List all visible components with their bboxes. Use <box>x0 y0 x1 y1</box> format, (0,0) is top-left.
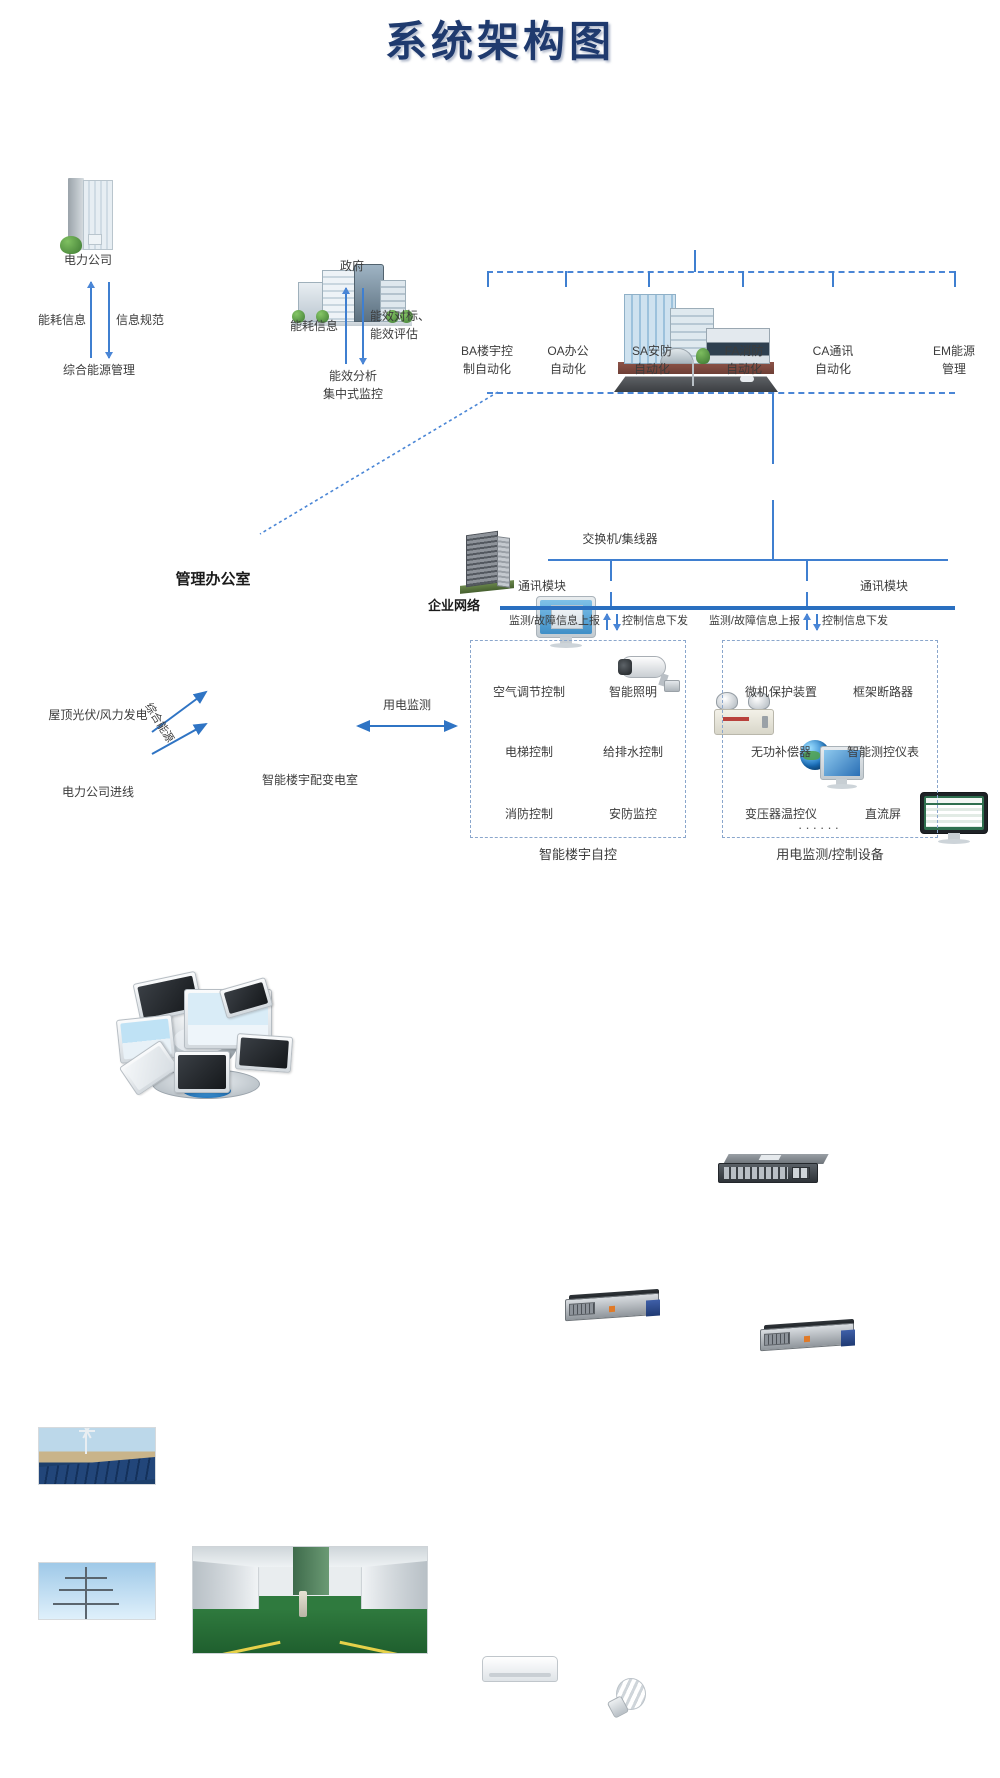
office-to-bus-link <box>250 390 510 550</box>
subsystem-label-ca-line2: 自动化 <box>793 361 873 377</box>
subsystem-label-ba-line1: BA楼宇控 <box>447 343 527 359</box>
pm-item-label-1: 框架断路器 <box>828 684 938 700</box>
subsystem-label-oa-line2: 自动化 <box>528 361 608 377</box>
power-company-label: 电力公司 <box>18 252 158 268</box>
power-company-icon <box>62 178 116 252</box>
drop-fa <box>742 271 744 287</box>
flow-down-arrow-left <box>616 614 618 630</box>
ba-item-label-1: 智能照明 <box>578 684 688 700</box>
ba-item-label-5: 安防监控 <box>578 806 688 822</box>
grid-incoming-icon <box>38 1562 156 1620</box>
management-office-icon <box>118 969 308 1101</box>
switch-to-bus-line <box>772 500 774 560</box>
air-conditioner-icon <box>482 1656 558 1682</box>
government-down-arrow-label-line1: 能效对标、 <box>370 308 460 324</box>
pm-item-label-2: 无功补偿器 <box>722 744 840 760</box>
power-company-up-arrow <box>90 282 92 358</box>
substation-room-label: 智能楼宇配变电室 <box>182 772 438 788</box>
management-office-label: 管理办公室 <box>108 572 318 588</box>
ba-item-label-0: 空气调节控制 <box>470 684 588 700</box>
subsystem-label-em-line1: EM能源 <box>914 343 994 359</box>
subsystem-label-ba-line2: 制自动化 <box>447 361 527 377</box>
network-switch-icon <box>718 1154 826 1190</box>
rooftop-pv-wind-icon <box>38 1427 156 1485</box>
power-company-down-arrow-label: 信息规范 <box>116 312 196 328</box>
flow-up-label-right: 监测/故障信息上报 <box>672 613 800 629</box>
pm-item-label-0: 微机保护装置 <box>722 684 840 700</box>
government-up-arrow-label: 能耗信息 <box>272 318 338 334</box>
drop-sa <box>648 271 650 287</box>
energy-analysis-label-line1: 能效分析 <box>288 368 418 384</box>
building-automation-caption: 智能楼宇自控 <box>470 847 686 863</box>
page-title: 系统架构图 <box>0 8 1000 69</box>
pm-item-label-3: 智能测控仪表 <box>828 744 938 760</box>
power-company-down-arrow <box>108 282 110 358</box>
building-to-bus-line <box>694 250 696 272</box>
government-down-arrow <box>362 288 364 364</box>
power-monitoring-arrow-label: 用电监测 <box>352 697 462 713</box>
subsystem-label-fa-line2: 自动化 <box>704 361 784 377</box>
flow-down-arrow-right <box>816 614 818 630</box>
subsystem-label-fa-line1: FA消防 <box>704 343 784 359</box>
grid-incoming-label: 电力公司进线 <box>18 784 178 800</box>
ba-item-label-4: 消防控制 <box>470 806 588 822</box>
power-monitoring-bidir-arrow <box>350 718 464 734</box>
comm-drop-left <box>610 559 612 581</box>
light-bulb-icon <box>608 1678 648 1724</box>
comm-module-right-icon <box>760 1322 858 1352</box>
comm-bus <box>548 559 948 561</box>
subsystem-bus-bottom <box>487 392 955 394</box>
subsystem-bus-top <box>487 271 955 273</box>
subsystem-label-sa-line2: 自动化 <box>612 361 692 377</box>
power-monitoring-caption: 用电监测/控制设备 <box>722 847 938 863</box>
subsystem-label-ca-line1: CA通讯 <box>793 343 873 359</box>
subsystem-label-oa-line1: OA办公 <box>528 343 608 359</box>
flow-down-label-right: 控制信息下发 <box>822 613 932 629</box>
integrated-energy-management-label: 综合能源管理 <box>18 362 180 378</box>
drop-ba <box>487 271 489 287</box>
flow-up-label-left: 监测/故障信息上报 <box>472 613 600 629</box>
government-label: 政府 <box>282 258 422 274</box>
comm-module-left-icon <box>565 1292 663 1322</box>
comm-module-right-label: 通讯模块 <box>860 578 940 594</box>
drop-em <box>954 271 956 287</box>
ba-item-label-2: 电梯控制 <box>470 744 588 760</box>
comm-drop-right <box>806 559 808 581</box>
switch-label: 交换机/集线器 <box>520 531 720 547</box>
drop-ca <box>832 271 834 287</box>
subsystem-label-em-line2: 管理 <box>914 361 994 377</box>
enterprise-network-label: 企业网络 <box>428 598 498 614</box>
subsystem-label-sa-line1: SA安防 <box>612 343 692 359</box>
power-company-up-arrow-label: 能耗信息 <box>14 312 86 328</box>
flow-up-arrow-right <box>806 614 808 630</box>
enterprise-network-bar <box>500 606 955 610</box>
substation-room-icon <box>192 1546 428 1654</box>
bus-to-switch-line <box>772 392 774 464</box>
comm-module-left-label: 通讯模块 <box>500 578 566 594</box>
government-up-arrow <box>345 288 347 364</box>
ba-item-label-3: 给排水控制 <box>578 744 688 760</box>
power-monitoring-ellipsis: ······ <box>760 820 880 836</box>
flow-up-arrow-left <box>606 614 608 630</box>
drop-oa <box>565 271 567 287</box>
government-down-arrow-label-line2: 能效评估 <box>370 326 460 342</box>
